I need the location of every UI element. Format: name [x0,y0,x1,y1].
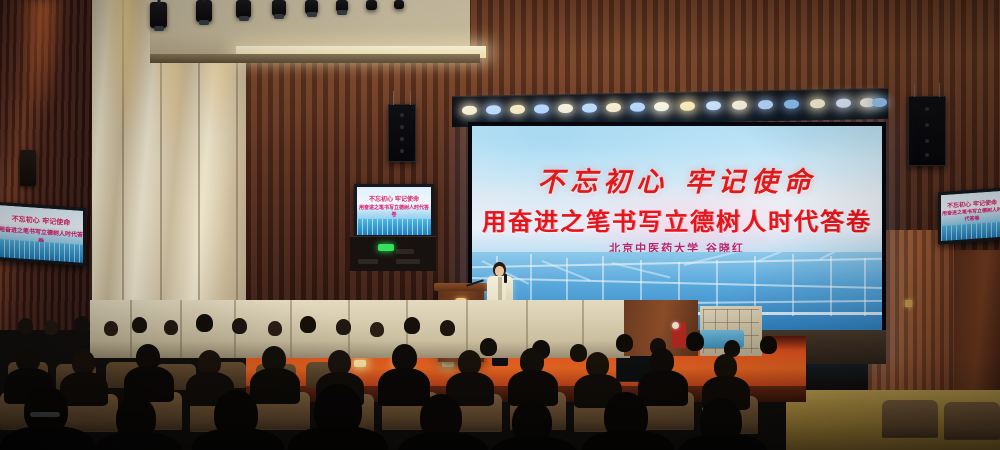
av-equipment-rack [350,236,436,271]
audience [0,300,1000,450]
confidence-monitor-left: 不忘初心 牢记使命 用奋进之笔书写立德树人时代答卷 [0,202,86,266]
moving-head-light [150,2,167,28]
monitor-center-line2: 用奋进之笔书写立德树人时代答卷 [357,204,431,218]
moving-head-light [336,0,348,12]
lectern-top [434,283,488,291]
slide-title-line2: 用奋进之笔书写立德树人时代答卷 [472,202,882,237]
monitor-center-line1: 不忘初心 牢记使命 [357,194,431,203]
wall-warm-glow [18,0,64,120]
moving-head-light [236,0,251,18]
line-array-speaker-right [908,96,946,166]
moving-head-light [366,0,377,10]
wall-uplight-pool [104,0,148,134]
moving-head-light [305,0,318,14]
auditorium-scene: 不忘初心 牢记使命 用奋进之笔书写立德树人时代答卷 北京中医药大学 谷晓红 不忘… [0,0,1000,450]
equipment-status-led [378,244,394,251]
confidence-monitor-right: 不忘初心 牢记使命 用奋进之笔书写立德树人时代答卷 [938,188,1000,245]
slide-title-line1: 不忘初心 牢记使命 [472,160,882,199]
moving-head-light [272,0,286,16]
wall-speaker-icon [20,150,36,186]
handheld-microphone-icon [504,274,507,283]
ceiling-edge-trim [150,54,480,63]
confidence-monitor-center: 不忘初心 牢记使命 用奋进之笔书写立德树人时代答卷 [354,184,434,238]
line-array-speaker-left [388,104,416,162]
moving-head-light [394,0,404,9]
moving-head-light [196,0,212,22]
